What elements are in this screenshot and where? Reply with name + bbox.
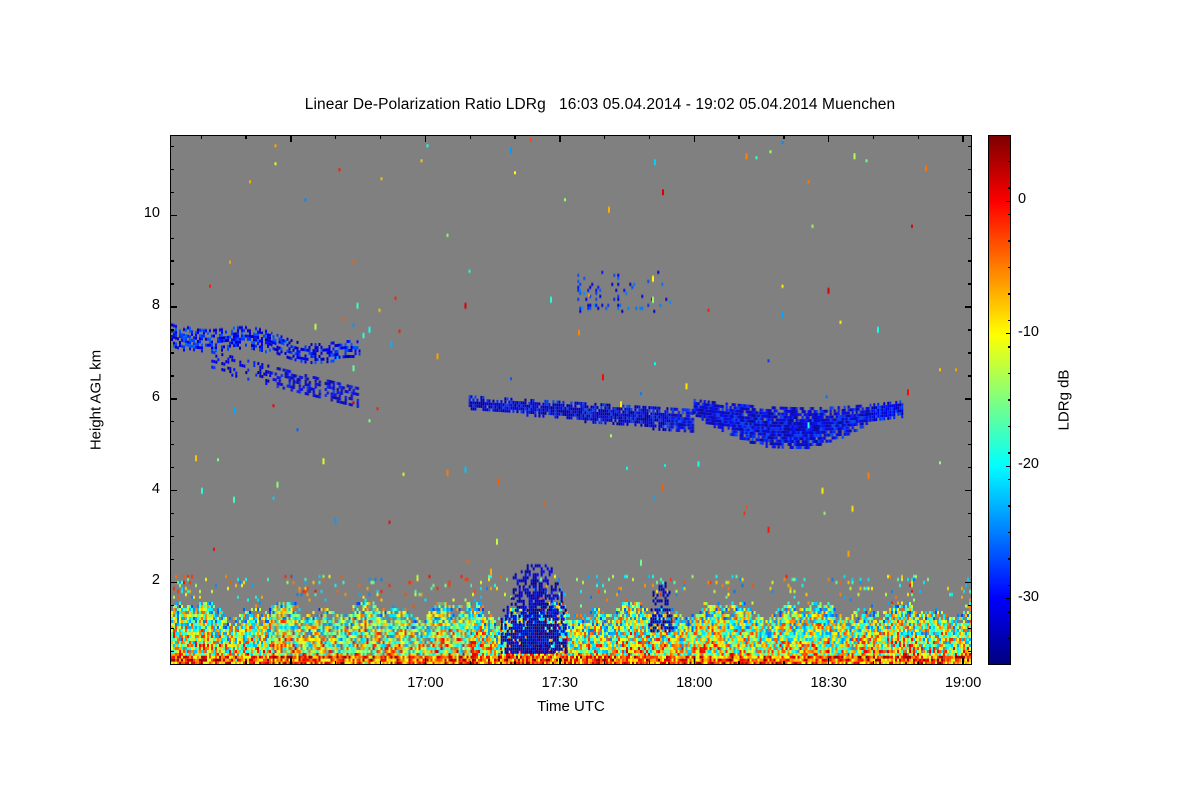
- y-axis-minor-tick: [170, 375, 174, 376]
- y-axis-minor-tick-right: [968, 146, 972, 147]
- page-title: Linear De-Polarization Ratio LDRg 16:03 …: [0, 96, 1200, 114]
- y-axis-minor-tick-right: [968, 513, 972, 514]
- colorbar-minor-tick: [1008, 611, 1011, 612]
- y-axis-minor-tick: [170, 467, 174, 468]
- x-axis-minor-tick-top: [335, 135, 336, 139]
- colorbar-minor-tick: [1008, 426, 1011, 427]
- x-axis-minor-tick: [380, 661, 381, 665]
- colorbar-minor-tick: [1008, 399, 1011, 400]
- y-axis-tick-right: [965, 306, 972, 307]
- x-axis-minor-tick: [738, 661, 739, 665]
- x-axis-minor-tick: [470, 661, 471, 665]
- colorbar-tick: [1006, 466, 1011, 467]
- colorbar-minor-tick: [1008, 267, 1011, 268]
- y-axis-tick: [170, 398, 177, 399]
- colorbar-minor-tick: [1008, 214, 1011, 215]
- y-axis-minor-tick: [170, 260, 174, 261]
- y-axis-minor-tick: [170, 329, 174, 330]
- x-axis-tick: [290, 658, 291, 665]
- y-axis-minor-tick: [170, 559, 174, 560]
- x-axis-minor-tick: [514, 661, 515, 665]
- x-axis-minor-tick: [335, 661, 336, 665]
- y-axis-tick: [170, 582, 177, 583]
- x-axis-tick: [559, 658, 560, 665]
- y-axis-minor-tick-right: [968, 283, 972, 284]
- y-axis-label: Height AGL km: [88, 350, 105, 450]
- x-axis-tick-top: [425, 135, 426, 142]
- x-axis-tick: [694, 658, 695, 665]
- y-axis-tick-right: [965, 582, 972, 583]
- y-axis-tick: [170, 490, 177, 491]
- x-axis-minor-tick-top: [918, 135, 919, 139]
- x-axis-minor-tick-top: [380, 135, 381, 139]
- x-axis-minor-tick: [783, 661, 784, 665]
- colorbar-gradient-canvas: [989, 136, 1010, 664]
- x-axis-minor-tick-top: [245, 135, 246, 139]
- y-axis-minor-tick: [170, 513, 174, 514]
- y-axis-tick: [170, 306, 177, 307]
- x-axis-tick-top: [962, 135, 963, 142]
- x-axis-minor-tick: [918, 661, 919, 665]
- x-axis-tick-label: 19:00: [923, 675, 1003, 691]
- x-axis-minor-tick-top: [738, 135, 739, 139]
- x-axis-tick-label: 18:30: [789, 675, 869, 691]
- y-axis-minor-tick: [170, 651, 174, 652]
- y-axis-minor-tick: [170, 444, 174, 445]
- y-axis-minor-tick-right: [968, 260, 972, 261]
- y-axis-tick-right: [965, 398, 972, 399]
- x-axis-tick: [828, 658, 829, 665]
- y-axis-minor-tick: [170, 536, 174, 537]
- y-axis-tick-right: [965, 215, 972, 216]
- x-axis-tick-label: 17:00: [385, 675, 465, 691]
- colorbar-minor-tick: [1008, 479, 1011, 480]
- colorbar-tick-label: -10: [1018, 324, 1039, 340]
- y-axis-minor-tick-right: [968, 536, 972, 537]
- y-axis-minor-tick: [170, 628, 174, 629]
- colorbar-minor-tick: [1008, 373, 1011, 374]
- colorbar-tick: [1006, 333, 1011, 334]
- colorbar-minor-tick: [1008, 293, 1011, 294]
- x-axis-minor-tick-top: [201, 135, 202, 139]
- colorbar-minor-tick: [1008, 240, 1011, 241]
- x-axis-tick-label: 16:30: [251, 675, 331, 691]
- y-axis-tick: [170, 215, 177, 216]
- colorbar-tick: [1006, 598, 1011, 599]
- y-axis-minor-tick-right: [968, 169, 972, 170]
- radar-heatmap-canvas: [171, 136, 971, 664]
- x-axis-minor-tick: [604, 661, 605, 665]
- y-axis-minor-tick: [170, 169, 174, 170]
- x-axis-minor-tick: [245, 661, 246, 665]
- y-axis-minor-tick-right: [968, 605, 972, 606]
- y-axis-tick-label: 6: [108, 389, 160, 405]
- y-axis-minor-tick: [170, 421, 174, 422]
- y-axis-minor-tick-right: [968, 421, 972, 422]
- x-axis-label: Time UTC: [170, 698, 972, 715]
- colorbar-minor-tick: [1008, 638, 1011, 639]
- x-axis-tick-top: [828, 135, 829, 142]
- y-axis-minor-tick: [170, 605, 174, 606]
- y-axis-minor-tick: [170, 238, 174, 239]
- colorbar-minor-tick: [1008, 161, 1011, 162]
- y-axis-minor-tick-right: [968, 192, 972, 193]
- x-axis-tick-top: [559, 135, 560, 142]
- plot-area: [170, 135, 972, 665]
- y-axis-minor-tick-right: [968, 329, 972, 330]
- x-axis-minor-tick-top: [514, 135, 515, 139]
- y-axis-minor-tick-right: [968, 238, 972, 239]
- y-axis-minor-tick-right: [968, 559, 972, 560]
- y-axis-minor-tick: [170, 146, 174, 147]
- x-axis-minor-tick-top: [470, 135, 471, 139]
- y-axis-tick-label: 2: [108, 572, 160, 588]
- x-axis-minor-tick: [649, 661, 650, 665]
- colorbar-tick: [1006, 201, 1011, 202]
- radar-figure: Linear De-Polarization Ratio LDRg 16:03 …: [0, 0, 1200, 800]
- colorbar-label: LDRg dB: [1056, 370, 1073, 431]
- y-axis-minor-tick: [170, 283, 174, 284]
- x-axis-tick: [425, 658, 426, 665]
- y-axis-tick-label: 4: [108, 481, 160, 497]
- x-axis-tick-label: 17:30: [520, 675, 600, 691]
- colorbar-minor-tick: [1008, 187, 1011, 188]
- x-axis-minor-tick: [201, 661, 202, 665]
- colorbar-tick-label: -30: [1018, 589, 1039, 605]
- y-axis-minor-tick-right: [968, 651, 972, 652]
- colorbar-minor-tick: [1008, 505, 1011, 506]
- colorbar-minor-tick: [1008, 558, 1011, 559]
- colorbar-minor-tick: [1008, 320, 1011, 321]
- y-axis-minor-tick-right: [968, 352, 972, 353]
- y-axis-minor-tick: [170, 192, 174, 193]
- x-axis-tick-top: [694, 135, 695, 142]
- x-axis-tick-top: [290, 135, 291, 142]
- y-axis-minor-tick-right: [968, 444, 972, 445]
- x-axis-minor-tick-top: [604, 135, 605, 139]
- colorbar-tick-label: -20: [1018, 456, 1039, 472]
- y-axis-tick-label: 8: [108, 297, 160, 313]
- colorbar-minor-tick: [1008, 532, 1011, 533]
- colorbar-minor-tick: [1008, 452, 1011, 453]
- x-axis-tick: [962, 658, 963, 665]
- colorbar-minor-tick: [1008, 346, 1011, 347]
- y-axis-minor-tick-right: [968, 628, 972, 629]
- x-axis-minor-tick: [873, 661, 874, 665]
- x-axis-minor-tick-top: [873, 135, 874, 139]
- y-axis-minor-tick-right: [968, 375, 972, 376]
- colorbar-minor-tick: [1008, 585, 1011, 586]
- x-axis-tick-label: 18:00: [654, 675, 734, 691]
- x-axis-minor-tick-top: [783, 135, 784, 139]
- y-axis-tick-label: 10: [108, 205, 160, 221]
- x-axis-minor-tick-top: [649, 135, 650, 139]
- colorbar-tick-label: 0: [1018, 191, 1026, 207]
- y-axis-minor-tick-right: [968, 467, 972, 468]
- y-axis-minor-tick: [170, 352, 174, 353]
- y-axis-tick-right: [965, 490, 972, 491]
